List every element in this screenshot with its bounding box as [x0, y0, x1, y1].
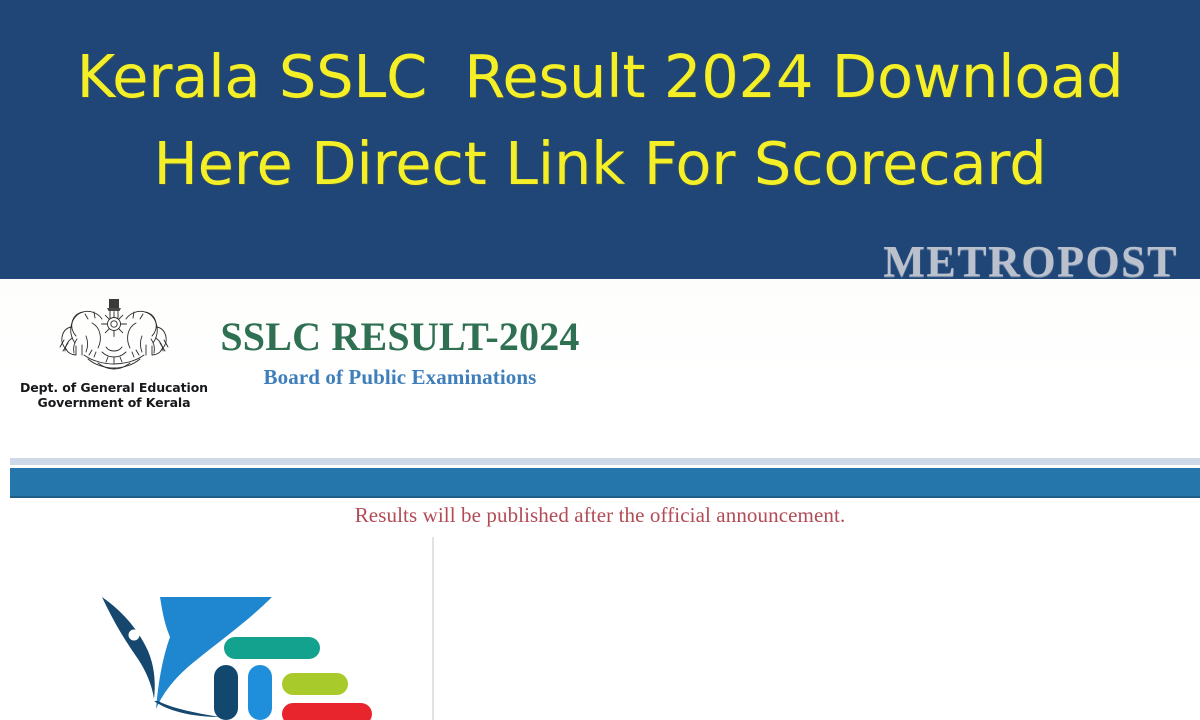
result-sheet-header: Dept. of General Education Government of… [0, 279, 1200, 443]
kerala-state-emblem-icon [36, 295, 192, 379]
ite-kite-logo-icon [96, 589, 386, 720]
metropost-watermark: METROPOST [883, 240, 1178, 284]
screenshot-page: Kerala SSLC Result 2024 Download Here Di… [0, 0, 1200, 720]
promo-banner-line-1: Kerala SSLC Result 2024 Download [77, 33, 1124, 120]
sslc-result-sheet: Dept. of General Education Government of… [0, 279, 1200, 720]
emblem-block: Dept. of General Education Government of… [14, 295, 214, 411]
page-title: SSLC RESULT-2024 [200, 317, 600, 358]
page-subtitle: Board of Public Examinations [200, 367, 600, 388]
content-divider [432, 537, 434, 720]
result-title-block: SSLC RESULT-2024 Board of Public Examina… [200, 317, 600, 388]
promo-banner-text: Kerala SSLC Result 2024 Download Here Di… [0, 0, 1200, 240]
promo-banner-line-2: Here Direct Link For Scorecard [153, 120, 1046, 207]
ite-logo [96, 589, 386, 720]
navigation-bar[interactable] [10, 468, 1200, 498]
emblem-caption: Dept. of General Education Government of… [14, 381, 214, 411]
divider-bar-light [10, 458, 1200, 465]
result-notice: Results will be published after the offi… [0, 503, 1200, 528]
